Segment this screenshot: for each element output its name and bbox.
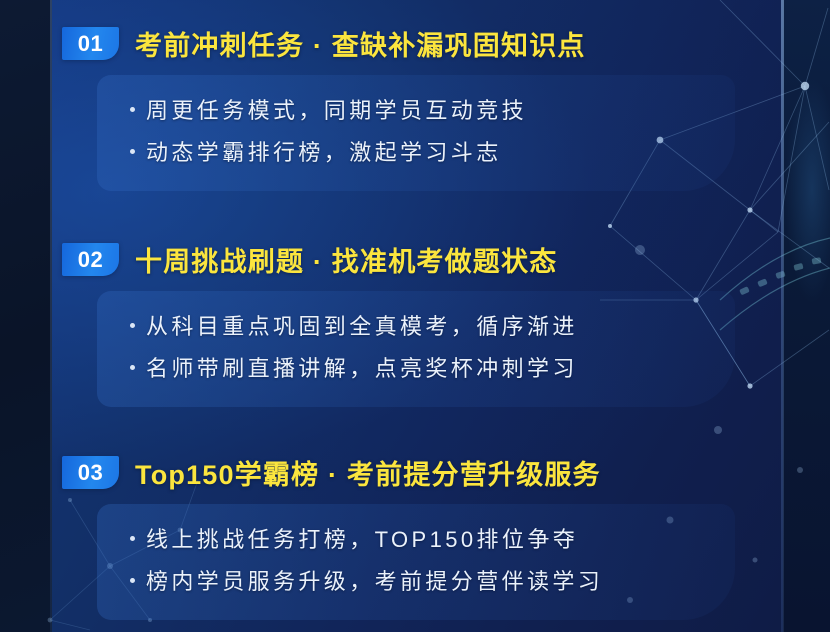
bullet-dot-icon: [130, 107, 135, 112]
section-03-header: 03 Top150学霸榜 · 考前提分营升级服务: [62, 453, 601, 492]
section-02-number-badge: 02: [62, 243, 119, 276]
section-03-number-badge: 03: [62, 456, 119, 489]
bullet-text: 榜内学员服务升级，考前提分营伴读学习: [146, 571, 603, 593]
bullet-dot-icon: [130, 578, 135, 583]
section-03-heading: Top150学霸榜 · 考前提分营升级服务: [135, 453, 601, 492]
list-item: 周更任务模式，同期学员互动竞技: [130, 100, 527, 122]
bullet-dot-icon: [130, 365, 135, 370]
bullet-dot-icon: [130, 536, 135, 541]
section-02-header: 02 十周挑战刷题 · 找准机考做题状态: [62, 240, 557, 279]
section-01-header: 01 考前冲刺任务 · 查缺补漏巩固知识点: [62, 24, 586, 63]
bullet-text: 周更任务模式，同期学员互动竞技: [146, 100, 527, 122]
sections-container: 01 考前冲刺任务 · 查缺补漏巩固知识点 周更任务模式，同期学员互动竞技 动态…: [0, 0, 830, 632]
bullet-text: 名师带刷直播讲解，点亮奖杯冲刺学习: [146, 358, 578, 380]
bullet-text: 线上挑战任务打榜，TOP150排位争夺: [146, 529, 578, 551]
section-02-number: 02: [78, 249, 103, 271]
bullet-text: 从科目重点巩固到全真模考，循序渐进: [146, 316, 578, 338]
section-01-bullets: 周更任务模式，同期学员互动竞技 动态学霸排行榜，激起学习斗志: [130, 100, 527, 184]
list-item: 名师带刷直播讲解，点亮奖杯冲刺学习: [130, 358, 578, 380]
bullet-dot-icon: [130, 149, 135, 154]
section-03-number: 03: [78, 462, 103, 484]
list-item: 榜内学员服务升级，考前提分营伴读学习: [130, 571, 603, 593]
list-item: 动态学霸排行榜，激起学习斗志: [130, 142, 527, 164]
promo-poster: 01 考前冲刺任务 · 查缺补漏巩固知识点 周更任务模式，同期学员互动竞技 动态…: [0, 0, 830, 632]
section-01-number: 01: [78, 33, 103, 55]
section-01-number-badge: 01: [62, 27, 119, 60]
section-01-heading: 考前冲刺任务 · 查缺补漏巩固知识点: [135, 24, 586, 63]
bullet-text: 动态学霸排行榜，激起学习斗志: [146, 142, 502, 164]
section-03-bullets: 线上挑战任务打榜，TOP150排位争夺 榜内学员服务升级，考前提分营伴读学习: [130, 529, 603, 613]
bullet-dot-icon: [130, 323, 135, 328]
list-item: 从科目重点巩固到全真模考，循序渐进: [130, 316, 578, 338]
section-02-heading: 十周挑战刷题 · 找准机考做题状态: [135, 240, 557, 279]
list-item: 线上挑战任务打榜，TOP150排位争夺: [130, 529, 603, 551]
section-02-bullets: 从科目重点巩固到全真模考，循序渐进 名师带刷直播讲解，点亮奖杯冲刺学习: [130, 316, 578, 400]
